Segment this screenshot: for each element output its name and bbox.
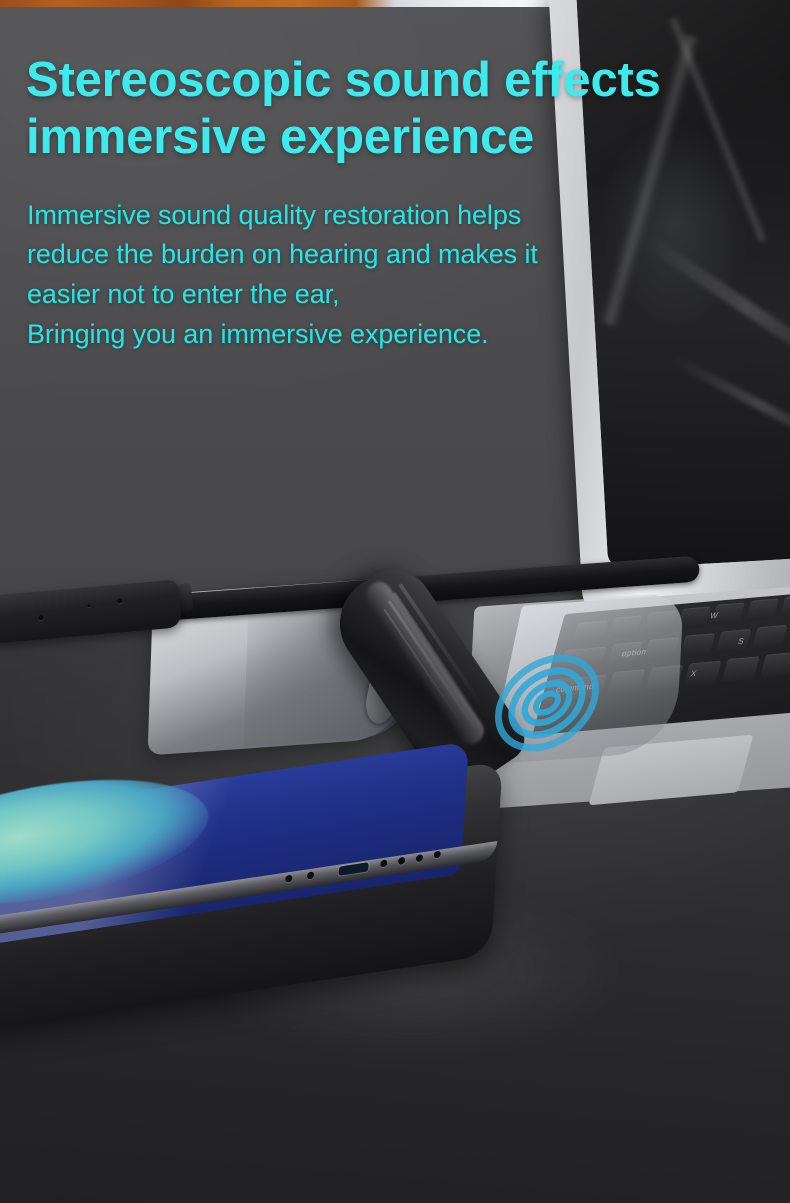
body-paragraph: Immersive sound quality restoration help…	[27, 196, 766, 355]
keyboard-key	[746, 598, 779, 621]
keyboard-key	[722, 656, 760, 681]
microphone-hole	[117, 598, 122, 603]
charging-port	[338, 862, 368, 876]
speaker-grille-hole	[434, 850, 441, 858]
keyboard-key	[780, 594, 790, 617]
speaker-grille-hole	[307, 871, 314, 879]
speaker-grille-hole	[416, 854, 423, 862]
microphone-hole	[87, 604, 90, 607]
product-marketing-poster: command option X W S	[0, 0, 790, 1203]
keyboard-key	[760, 651, 790, 677]
keyboard-key	[684, 661, 722, 686]
keyboard-key	[680, 633, 716, 657]
speaker-grille-hole	[398, 857, 405, 865]
speaker-grille-hole	[380, 859, 387, 867]
speaker-grille-hole	[285, 875, 292, 883]
keyboard-key	[677, 606, 710, 629]
keyboard-key	[716, 629, 752, 653]
marketing-copy: Stereoscopic sound effects immersive exp…	[26, 52, 766, 354]
microphone-hole	[38, 615, 43, 620]
page-title: Stereoscopic sound effects immersive exp…	[26, 52, 766, 166]
keyboard-key	[752, 625, 788, 649]
